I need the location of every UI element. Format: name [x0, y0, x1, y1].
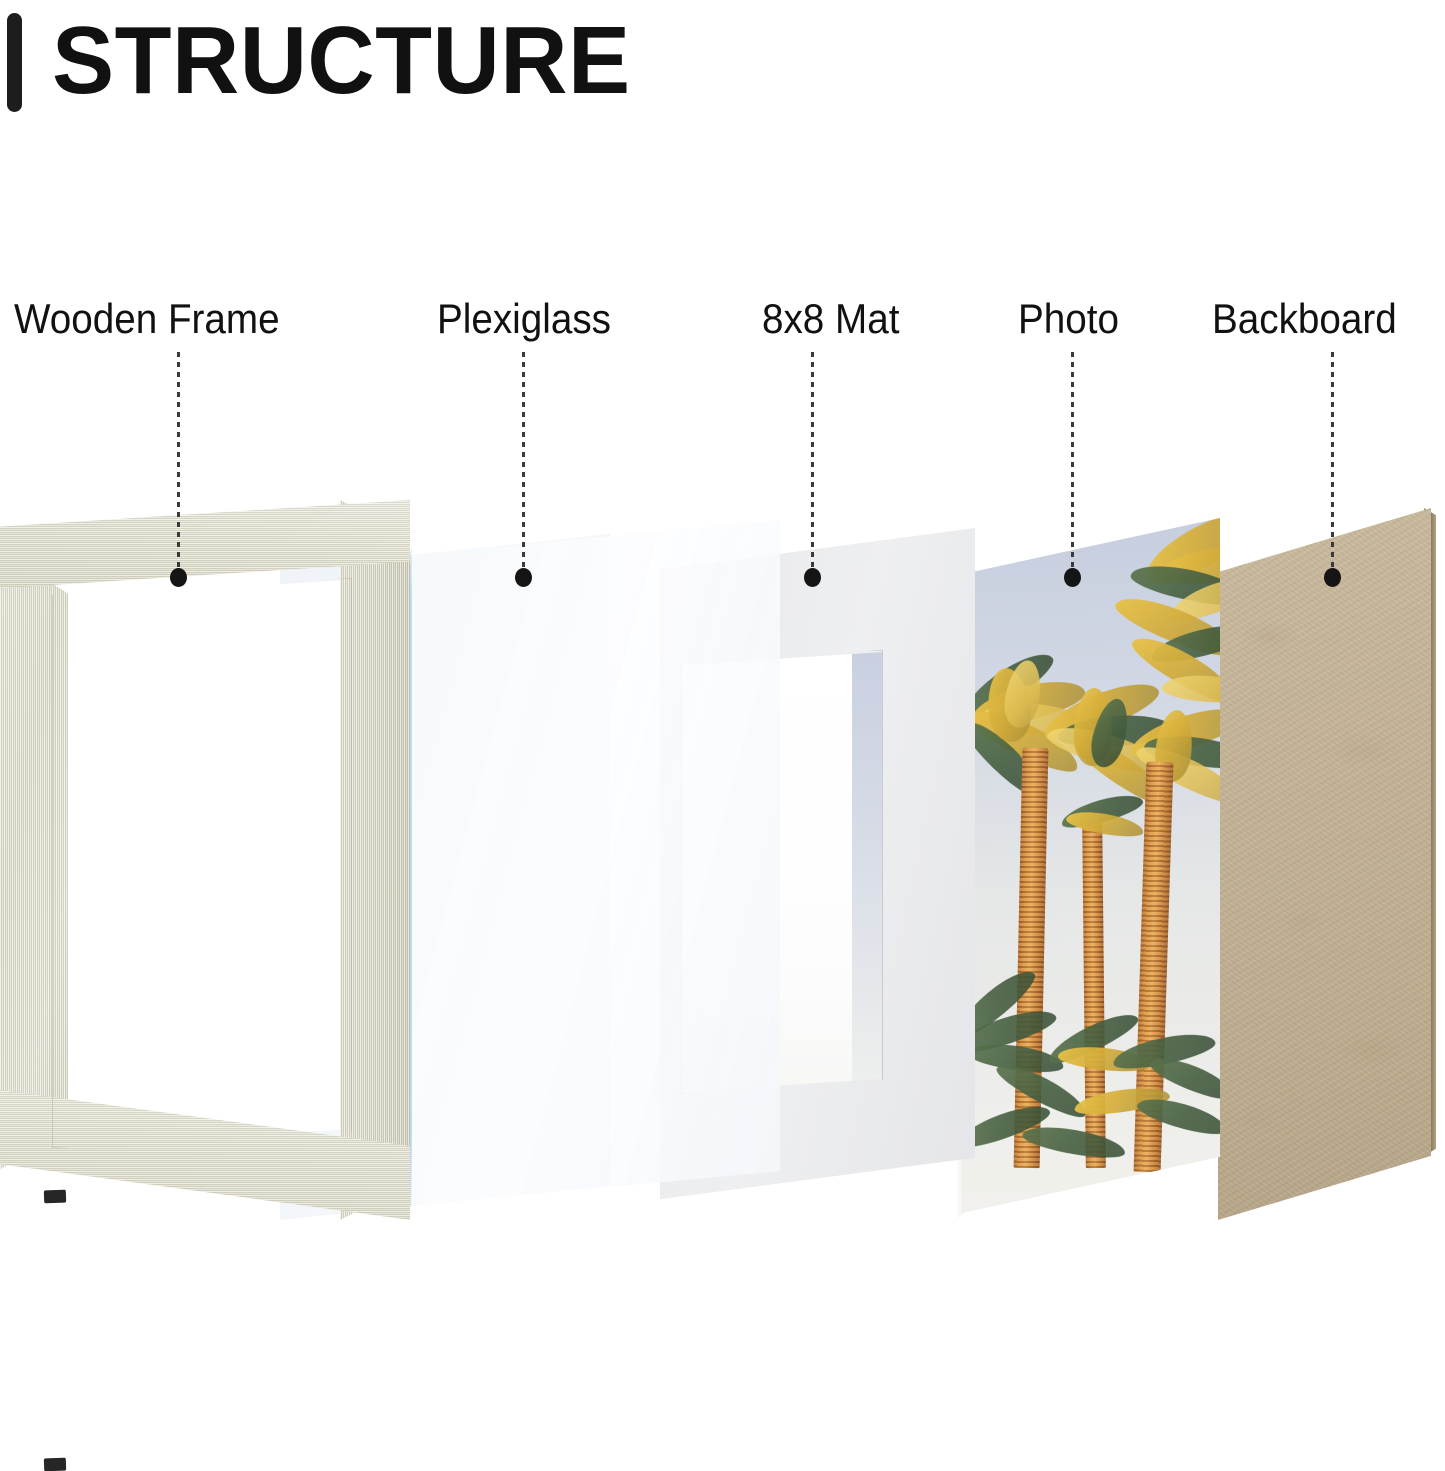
- leader-dot-mat: [804, 568, 821, 587]
- leader-line-backboard: [1331, 352, 1334, 572]
- layer-backboard: [1218, 508, 1445, 1220]
- leader-dot-photo: [1064, 568, 1081, 587]
- frame-inner-bevel: [52, 578, 352, 1148]
- backboard-texture-overlay: [1218, 508, 1431, 1220]
- layer-wooden-frame: [0, 500, 410, 1220]
- exploded-diagram: [0, 0, 1445, 1220]
- leader-dot-wooden-frame: [170, 568, 187, 587]
- photo-face: [962, 518, 1220, 1220]
- leader-line-plexiglass: [522, 352, 525, 572]
- leader-dot-plexiglass: [515, 568, 532, 587]
- leader-line-photo: [1071, 352, 1074, 572]
- leader-dot-backboard: [1324, 568, 1341, 587]
- frame-clip-lower: [44, 1458, 66, 1471]
- frame-clip-upper: [44, 1190, 66, 1204]
- leader-line-wooden-frame: [177, 352, 180, 572]
- plexiglass-front-sheet: [410, 520, 780, 1220]
- layer-photo: [962, 518, 1224, 1220]
- leader-line-mat: [811, 352, 814, 572]
